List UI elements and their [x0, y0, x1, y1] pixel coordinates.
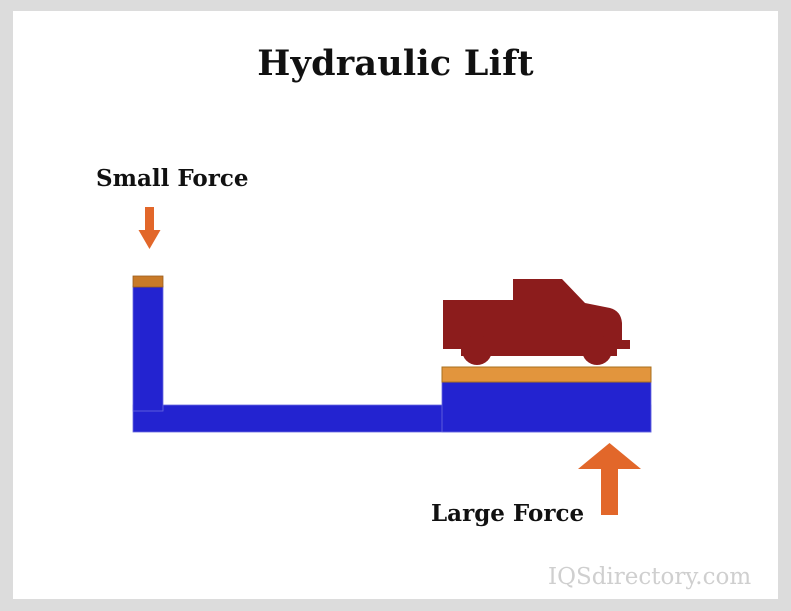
large-piston-plate	[442, 367, 651, 382]
arrow-down-icon	[139, 207, 161, 249]
watermark: IQSdirectory.com	[548, 564, 751, 590]
hydraulic-lift-illustration	[13, 11, 778, 599]
small-piston-cap	[133, 276, 163, 287]
large-piston-block	[442, 382, 651, 432]
pickup-truck-icon	[443, 279, 630, 365]
small-piston-column	[133, 286, 163, 411]
image-frame: Hydraulic Lift Small Force Large Force	[0, 0, 791, 611]
diagram-canvas: Hydraulic Lift Small Force Large Force	[13, 11, 778, 599]
arrow-up-icon	[578, 443, 641, 515]
